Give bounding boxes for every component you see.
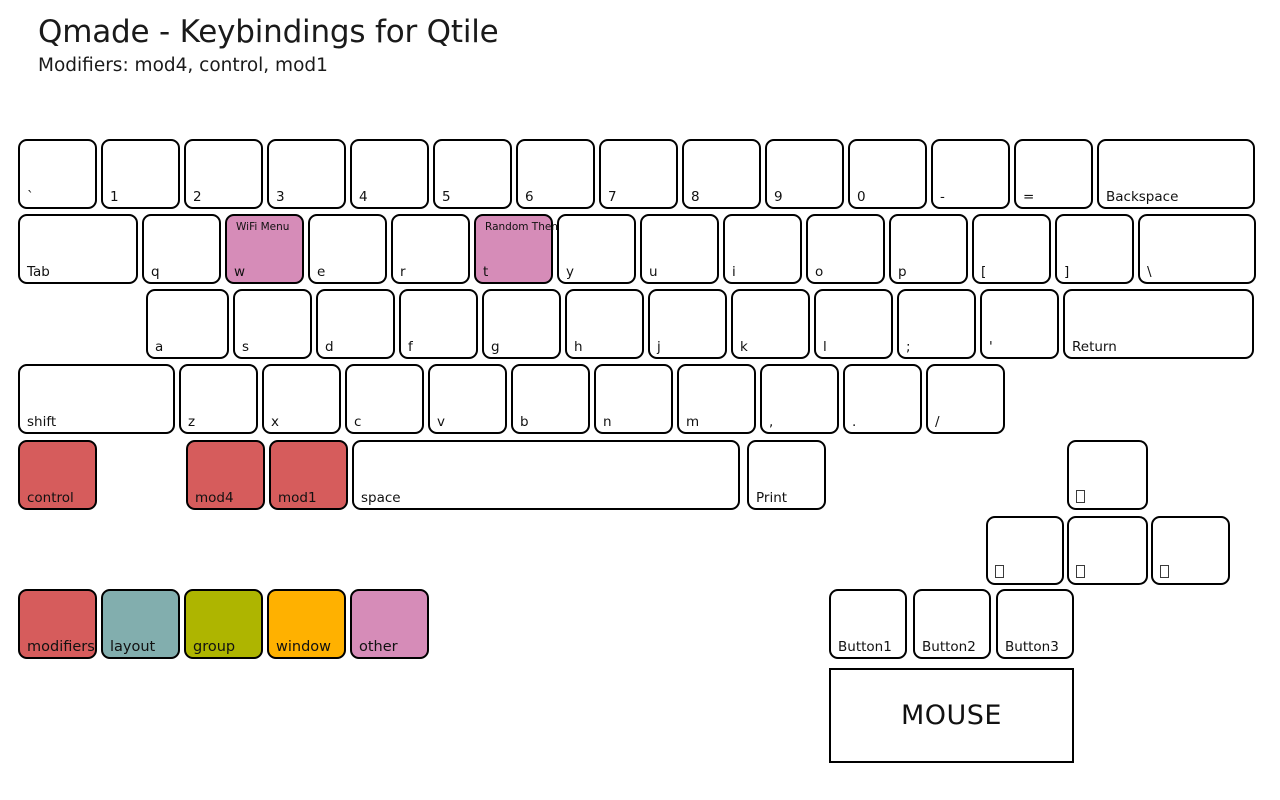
key-i[interactable]: i bbox=[723, 214, 802, 284]
key-label: . bbox=[852, 416, 856, 430]
key-r[interactable]: r bbox=[391, 214, 470, 284]
key-label bbox=[1076, 565, 1085, 580]
key-w[interactable]: WiFi Menuw bbox=[225, 214, 304, 284]
key-m[interactable]: m bbox=[677, 364, 756, 434]
key-period[interactable]: . bbox=[843, 364, 922, 434]
key-label: m bbox=[686, 416, 699, 430]
key-j[interactable]: j bbox=[648, 289, 727, 359]
legend-item-label: window bbox=[276, 640, 331, 655]
key-9[interactable]: 9 bbox=[765, 139, 844, 209]
key-label: k bbox=[740, 341, 748, 355]
key-z[interactable]: z bbox=[179, 364, 258, 434]
arrow-left-key[interactable] bbox=[986, 516, 1064, 585]
key-label: c bbox=[354, 416, 361, 430]
key-backspace[interactable]: Backspace bbox=[1097, 139, 1255, 209]
key-label: u bbox=[649, 266, 658, 280]
key-label: 6 bbox=[525, 191, 534, 205]
legend-item-window: window bbox=[267, 589, 346, 659]
key-label: / bbox=[935, 416, 940, 430]
key-semicolon[interactable]: ; bbox=[897, 289, 976, 359]
missing-glyph-box bbox=[1076, 565, 1085, 578]
key-label: t bbox=[483, 266, 488, 280]
key-u[interactable]: u bbox=[640, 214, 719, 284]
key-2[interactable]: 2 bbox=[184, 139, 263, 209]
key-return[interactable]: Return bbox=[1063, 289, 1254, 359]
legend-item-label: modifiers bbox=[27, 640, 95, 655]
key-h[interactable]: h bbox=[565, 289, 644, 359]
key-label: space bbox=[361, 492, 401, 506]
key-label: j bbox=[657, 341, 661, 355]
key-v[interactable]: v bbox=[428, 364, 507, 434]
key-label: ` bbox=[27, 191, 34, 205]
key-label: mod4 bbox=[195, 492, 234, 506]
key-label: Button3 bbox=[1005, 641, 1059, 655]
arrow-right-key[interactable] bbox=[1151, 516, 1230, 585]
key-shift[interactable]: shift bbox=[18, 364, 175, 434]
key-label: r bbox=[400, 266, 406, 280]
key-label: d bbox=[325, 341, 334, 355]
key-binding-label: WiFi Menu bbox=[236, 222, 289, 233]
key-3[interactable]: 3 bbox=[267, 139, 346, 209]
key-label: a bbox=[155, 341, 163, 355]
key-6[interactable]: 6 bbox=[516, 139, 595, 209]
legend-item-other: other bbox=[350, 589, 429, 659]
key-label: h bbox=[574, 341, 583, 355]
key-label: x bbox=[271, 416, 279, 430]
key-e[interactable]: e bbox=[308, 214, 387, 284]
missing-glyph-box bbox=[995, 565, 1004, 578]
key-label: \ bbox=[1147, 266, 1152, 280]
key-label: 8 bbox=[691, 191, 700, 205]
key-label: 7 bbox=[608, 191, 617, 205]
key-label: ] bbox=[1064, 266, 1069, 280]
key-label: g bbox=[491, 341, 500, 355]
key-bracketright[interactable]: ] bbox=[1055, 214, 1134, 284]
key-label: y bbox=[566, 266, 574, 280]
key-label: b bbox=[520, 416, 529, 430]
keyboard-diagram: `1234567890-=BackspaceTabqWiFi MenuwerRa… bbox=[0, 0, 1280, 800]
key-7[interactable]: 7 bbox=[599, 139, 678, 209]
key-label: Return bbox=[1072, 341, 1117, 355]
key-label: f bbox=[408, 341, 413, 355]
legend-item-layout: layout bbox=[101, 589, 180, 659]
key-label: 0 bbox=[857, 191, 866, 205]
key-y[interactable]: y bbox=[557, 214, 636, 284]
key-l[interactable]: l bbox=[814, 289, 893, 359]
key-label: 9 bbox=[774, 191, 783, 205]
key-8[interactable]: 8 bbox=[682, 139, 761, 209]
key-label: , bbox=[769, 416, 773, 430]
key-label: Print bbox=[756, 492, 787, 506]
key-label: 2 bbox=[193, 191, 202, 205]
key-binding-label: Random Theme bbox=[485, 222, 568, 233]
key-label: Button2 bbox=[922, 641, 976, 655]
key-minus[interactable]: - bbox=[931, 139, 1010, 209]
key-label: w bbox=[234, 266, 245, 280]
key-label: mod1 bbox=[278, 492, 317, 506]
key-tab[interactable]: Tab bbox=[18, 214, 138, 284]
key-a[interactable]: a bbox=[146, 289, 229, 359]
key-label: z bbox=[188, 416, 195, 430]
key-space[interactable]: space bbox=[352, 440, 740, 510]
key-label: Button1 bbox=[838, 641, 892, 655]
key-label: 5 bbox=[442, 191, 451, 205]
key-bracketleft[interactable]: [ bbox=[972, 214, 1051, 284]
key-grave[interactable]: ` bbox=[18, 139, 97, 209]
key-equal[interactable]: = bbox=[1014, 139, 1093, 209]
mouse-body: MOUSE bbox=[829, 668, 1074, 763]
mouse-button2[interactable]: Button2 bbox=[913, 589, 991, 659]
key-k[interactable]: k bbox=[731, 289, 810, 359]
key-5[interactable]: 5 bbox=[433, 139, 512, 209]
key-label: Tab bbox=[27, 266, 50, 280]
key-1[interactable]: 1 bbox=[101, 139, 180, 209]
missing-glyph-box bbox=[1160, 565, 1169, 578]
key-control[interactable]: control bbox=[18, 440, 97, 510]
key-label bbox=[1160, 565, 1169, 580]
key-label: 3 bbox=[276, 191, 285, 205]
arrow-down-key[interactable] bbox=[1067, 516, 1148, 585]
key-label: [ bbox=[981, 266, 986, 280]
key-g[interactable]: g bbox=[482, 289, 561, 359]
key-n[interactable]: n bbox=[594, 364, 673, 434]
mouse-button1[interactable]: Button1 bbox=[829, 589, 907, 659]
key-q[interactable]: q bbox=[142, 214, 221, 284]
key-label: 4 bbox=[359, 191, 368, 205]
key-label: o bbox=[815, 266, 823, 280]
legend-item-modifiers: modifiers bbox=[18, 589, 97, 659]
key-label: Backspace bbox=[1106, 191, 1178, 205]
key-p[interactable]: p bbox=[889, 214, 968, 284]
key-label: i bbox=[732, 266, 736, 280]
key-comma[interactable]: , bbox=[760, 364, 839, 434]
key-4[interactable]: 4 bbox=[350, 139, 429, 209]
key-label bbox=[995, 565, 1004, 580]
key-t[interactable]: Random Themet bbox=[474, 214, 553, 284]
key-0[interactable]: 0 bbox=[848, 139, 927, 209]
mouse-button3[interactable]: Button3 bbox=[996, 589, 1074, 659]
key-label: = bbox=[1023, 191, 1034, 205]
key-c[interactable]: c bbox=[345, 364, 424, 434]
key-slash[interactable]: / bbox=[926, 364, 1005, 434]
key-mod1[interactable]: mod1 bbox=[269, 440, 348, 510]
arrow-up-key[interactable] bbox=[1067, 440, 1148, 510]
legend-item-group: group bbox=[184, 589, 263, 659]
legend-item-label: layout bbox=[110, 640, 155, 655]
legend-item-label: group bbox=[193, 640, 235, 655]
key-label: s bbox=[242, 341, 249, 355]
key-print[interactable]: Print bbox=[747, 440, 826, 510]
key-apostrophe[interactable]: ' bbox=[980, 289, 1059, 359]
key-s[interactable]: s bbox=[233, 289, 312, 359]
key-label: e bbox=[317, 266, 325, 280]
key-label: v bbox=[437, 416, 445, 430]
key-label: l bbox=[823, 341, 827, 355]
key-label: n bbox=[603, 416, 612, 430]
key-d[interactable]: d bbox=[316, 289, 395, 359]
key-label: ; bbox=[906, 341, 911, 355]
key-backslash[interactable]: \ bbox=[1138, 214, 1256, 284]
key-label: control bbox=[27, 492, 74, 506]
key-label: 1 bbox=[110, 191, 119, 205]
key-f[interactable]: f bbox=[399, 289, 478, 359]
key-x[interactable]: x bbox=[262, 364, 341, 434]
key-label bbox=[1076, 490, 1085, 505]
key-label: shift bbox=[27, 416, 56, 430]
key-label: q bbox=[151, 266, 160, 280]
key-label: - bbox=[940, 191, 945, 205]
mouse-body-label: MOUSE bbox=[901, 700, 1002, 731]
legend-item-label: other bbox=[359, 640, 398, 655]
key-b[interactable]: b bbox=[511, 364, 590, 434]
key-label: p bbox=[898, 266, 907, 280]
key-mod4[interactable]: mod4 bbox=[186, 440, 265, 510]
key-o[interactable]: o bbox=[806, 214, 885, 284]
missing-glyph-box bbox=[1076, 490, 1085, 503]
key-label: ' bbox=[989, 341, 993, 355]
